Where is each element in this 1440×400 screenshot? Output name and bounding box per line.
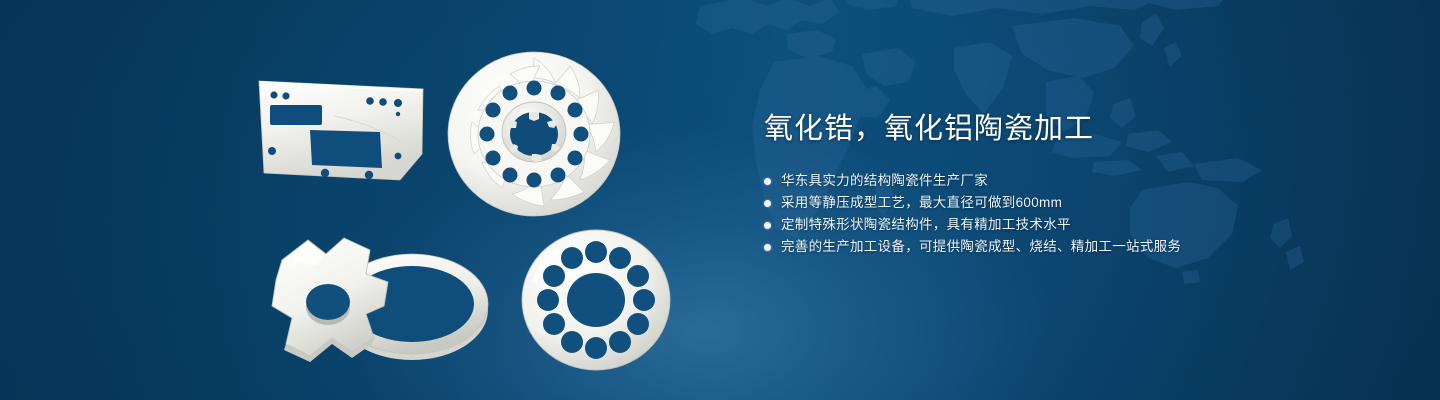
list-item: 完善的生产加工设备，可提供陶瓷成型、烧结、精加工一站式服务 xyxy=(764,236,1404,258)
list-item: 华东具实力的结构陶瓷件生产厂家 xyxy=(764,170,1404,192)
ceramic-machined-plate xyxy=(252,72,430,190)
list-item: 定制特殊形状陶瓷结构件，具有精加工技术水平 xyxy=(764,214,1404,236)
page-title: 氧化锆，氧化铝陶瓷加工 xyxy=(764,112,1404,146)
ceramic-vaned-impeller xyxy=(444,48,624,220)
ceramic-products-collage xyxy=(0,0,740,400)
list-item: 采用等静压成型工艺，最大直径可做到600mm xyxy=(764,192,1404,214)
bullet-dot-icon xyxy=(764,222,771,229)
feature-list: 华东具实力的结构陶瓷件生产厂家 采用等静压成型工艺，最大直径可做到600mm 定… xyxy=(764,170,1404,258)
ceramic-perforated-disc xyxy=(518,226,674,374)
hero-banner: 氧化锆，氧化铝陶瓷加工 华东具实力的结构陶瓷件生产厂家 采用等静压成型工艺，最大… xyxy=(0,0,1440,400)
feature-text: 完善的生产加工设备，可提供陶瓷成型、烧结、精加工一站式服务 xyxy=(781,236,1181,258)
bullet-dot-icon xyxy=(764,200,771,207)
ceramic-cross-plate-and-ring xyxy=(248,226,494,376)
feature-text: 华东具实力的结构陶瓷件生产厂家 xyxy=(781,170,988,192)
feature-text: 采用等静压成型工艺，最大直径可做到600mm xyxy=(781,192,1062,214)
bullet-dot-icon xyxy=(764,244,771,251)
feature-text: 定制特殊形状陶瓷结构件，具有精加工技术水平 xyxy=(781,214,1071,236)
bullet-dot-icon xyxy=(764,178,771,185)
banner-copy-block: 氧化锆，氧化铝陶瓷加工 华东具实力的结构陶瓷件生产厂家 采用等静压成型工艺，最大… xyxy=(764,112,1404,258)
